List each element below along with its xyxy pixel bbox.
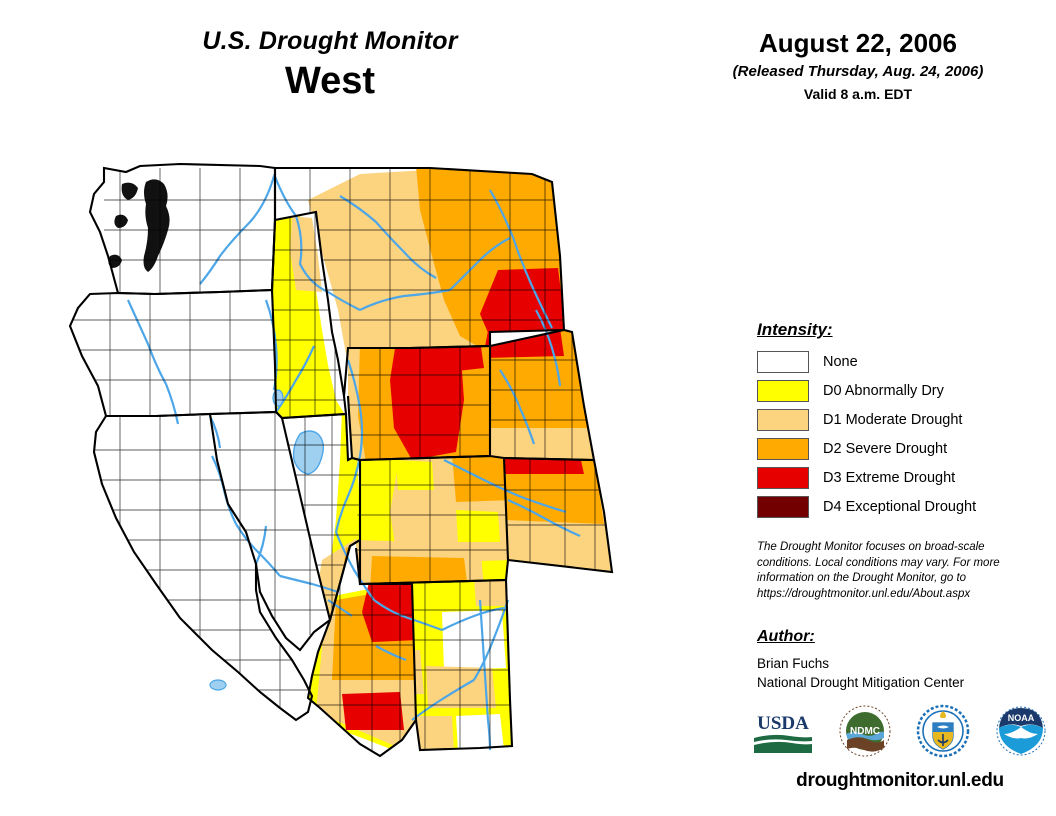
drought-region-colorado [354,454,512,590]
legend-swatch-d4 [757,496,809,518]
header-right: August 22, 2006 (Released Thursday, Aug.… [660,28,1056,104]
page-title: U.S. Drought Monitor [0,26,660,56]
author-block: Author: Brian Fuchs National Drought Mit… [757,628,1037,692]
legend-label-d3: D3 Extreme Drought [823,470,955,486]
drought-region-northern-plains [484,326,594,462]
svg-text:USDA: USDA [757,713,809,734]
region-title: West [0,58,660,104]
legend-item-d0[interactable]: D0 Abnormally Dry [757,378,1047,403]
ndmc-logo[interactable]: NDMC [838,704,892,758]
noaa-seal-logo[interactable] [916,704,970,758]
legend-swatch-none [757,351,809,373]
legend-item-d4[interactable]: D4 Exceptional Drought [757,494,1047,519]
drought-region-wyoming [342,340,496,464]
legend-title: Intensity: [757,320,1047,340]
legend-swatch-d3 [757,467,809,489]
header-left: U.S. Drought Monitor West [0,26,660,104]
legend-label-d1: D1 Moderate Drought [823,412,962,428]
legend-label-d2: D2 Severe Drought [823,441,947,457]
valid-time: Valid 8 a.m. EDT [660,85,1056,104]
legend-label-none: None [823,354,858,370]
legend-swatch-d1 [757,409,809,431]
svg-text:NDMC: NDMC [850,726,880,737]
legend-label-d4: D4 Exceptional Drought [823,499,976,515]
author-name: Brian Fuchs [757,654,1037,673]
noaa-logo[interactable]: NOAA [994,704,1048,758]
legend-label-d0: D0 Abnormally Dry [823,383,944,399]
legend-swatch-d0 [757,380,809,402]
map-svg [60,160,720,780]
usda-logo[interactable]: USDA [752,707,814,755]
legend-swatch-d2 [757,438,809,460]
logo-row: USDA NDMC NOAA [752,702,1048,760]
release-date: (Released Thursday, Aug. 24, 2006) [660,62,1056,82]
legend-item-d3[interactable]: D3 Extreme Drought [757,465,1047,490]
author-heading: Author: [757,628,1037,646]
author-affiliation: National Drought Mitigation Center [757,673,1037,692]
legend-item-none[interactable]: None [757,349,1047,374]
disclaimer-text: The Drought Monitor focuses on broad-sca… [757,540,1027,602]
legend: Intensity: None D0 Abnormally Dry D1 Mod… [757,320,1047,523]
drought-map [60,160,720,780]
footer-url[interactable]: droughtmonitor.unl.edu [752,770,1048,792]
svg-text:NOAA: NOAA [1008,713,1035,723]
map-date: August 22, 2006 [660,28,1056,59]
legend-item-d1[interactable]: D1 Moderate Drought [757,407,1047,432]
legend-item-d2[interactable]: D2 Severe Drought [757,436,1047,461]
